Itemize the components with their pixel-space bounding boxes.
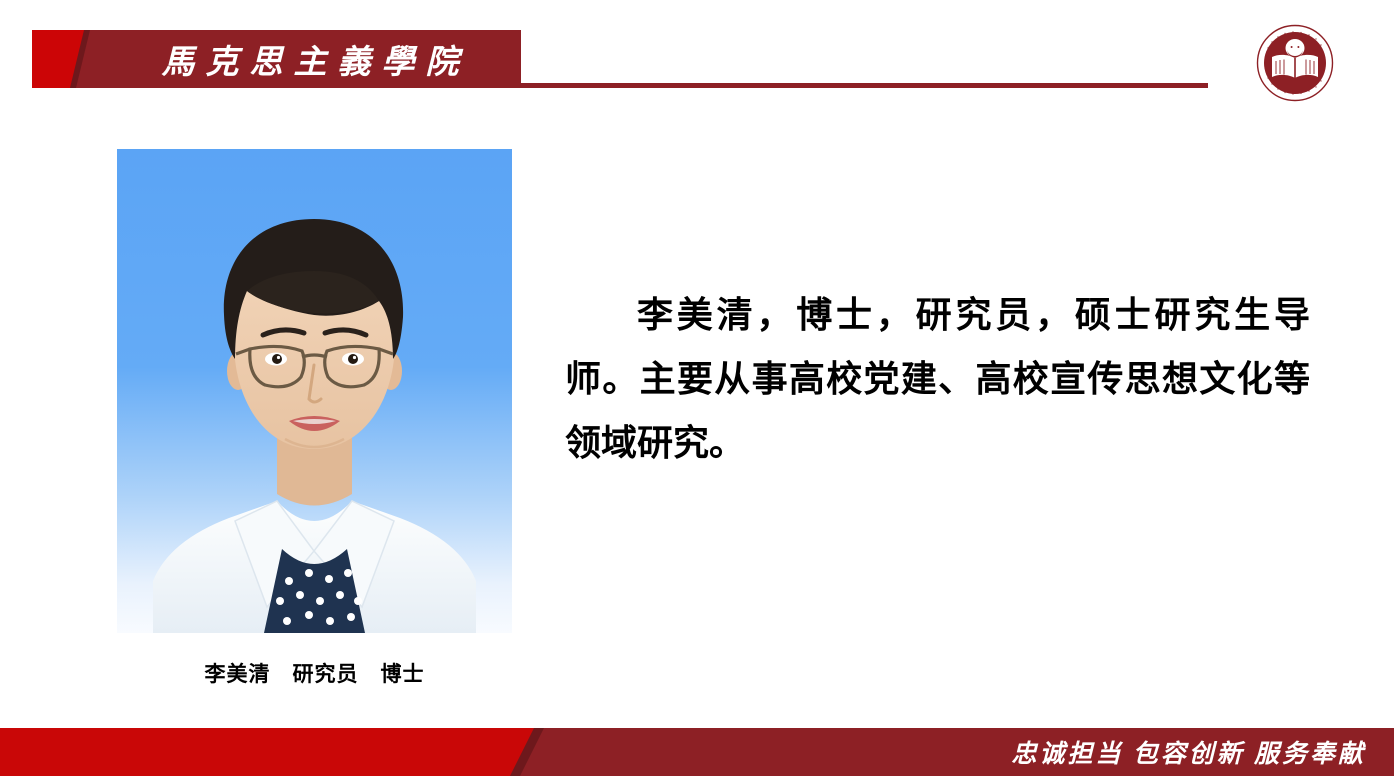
page-title: 馬克思主義學院 bbox=[105, 30, 515, 88]
header-divider-rule bbox=[521, 83, 1208, 88]
portrait-caption: 李美清 研究员 博士 bbox=[117, 658, 512, 688]
slide-root: 馬克思主義學院 bbox=[0, 0, 1394, 776]
portrait-photo bbox=[117, 149, 512, 633]
footer-accent-block bbox=[0, 728, 548, 776]
biography-text: 李美清，博士，研究员，硕士研究生导师。主要从事高校党建、高校宣传思想文化等领域研… bbox=[565, 283, 1310, 475]
footer-slogan: 忠诚担当 包容创新 服务奉献 bbox=[1011, 728, 1366, 776]
footer-banner: 忠诚担当 包容创新 服务奉献 bbox=[0, 728, 1394, 776]
school-seal-logo bbox=[1256, 24, 1334, 102]
